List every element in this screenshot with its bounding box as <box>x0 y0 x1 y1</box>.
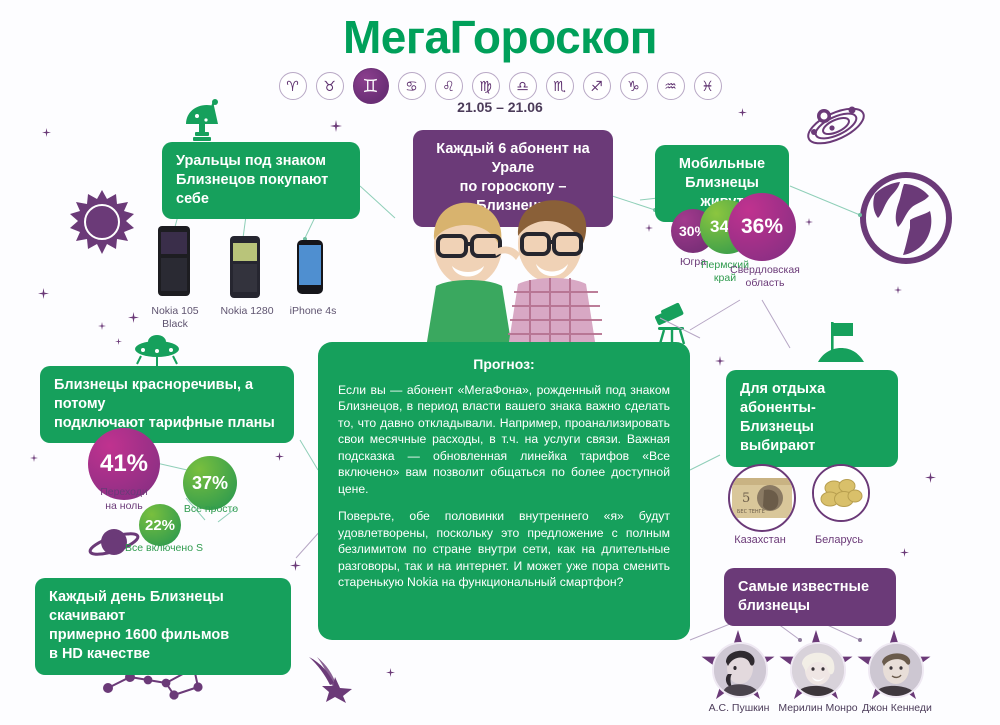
gemini-couple-photo <box>390 188 622 348</box>
tariff-label-vse-s: Все включено S <box>118 542 210 555</box>
phone-label-0: Nokia 105Black <box>140 305 210 331</box>
phones-banner: Уральцы под знакомБлизнецов покупают себ… <box>162 142 360 219</box>
celeb-star-pushkin <box>700 630 776 706</box>
forecast-paragraph-0: Если вы — абонент «МегаФона», рожденный … <box>338 382 670 497</box>
tariff-value-prosto: 37% <box>192 473 228 494</box>
travel-banner: Для отдыха абоненты-Близнецы выбирают <box>726 370 898 467</box>
tariffs-banner: Близнецы красноречивы, а потомуподключаю… <box>40 366 294 443</box>
travel-label-belarus: Беларусь <box>806 534 872 547</box>
celebs-banner: Самые известныеблизнецы <box>724 568 896 626</box>
celeb-label-pushkin: А.С. Пушкин <box>694 702 784 714</box>
celeb-portrait-monroe <box>790 642 846 698</box>
celeb-label-monroe: Мерилин Монро <box>772 702 864 714</box>
tariff-value-zero: 41% <box>100 450 148 478</box>
tariff-bubble-vse-s: 22% <box>139 504 181 546</box>
tariffs-banner-text: Близнецы красноречивы, а потомуподключаю… <box>54 377 275 431</box>
travel-banner-text: Для отдыха абоненты-Близнецы выбирают <box>740 381 825 454</box>
phones-banner-text: Уральцы под знакомБлизнецов покупают себ… <box>176 153 328 207</box>
tariff-label-prosto: Все просто <box>178 503 244 516</box>
svg-text:5: 5 <box>742 491 750 506</box>
svg-text:БЕС ТЕНГЕ: БЕС ТЕНГЕ <box>737 509 765 515</box>
forecast-panel: Прогноз: Если вы — абонент «МегаФона», р… <box>318 342 690 640</box>
infographic-canvas: МегаГороскоп ♈♉♊♋♌♍♎♏♐♑♒♓ 21.05 – 21.06 <box>0 0 1000 725</box>
downloads-banner-text: Каждый день Близнецы скачиваютпримерно 1… <box>49 589 229 662</box>
phone-label-1: Nokia 1280 <box>212 305 282 318</box>
region-value-sverdlovsk: 36% <box>741 215 783 239</box>
phone-iphone-4s <box>297 240 323 294</box>
region-label-sverdlovsk: Свердловскаяобласть <box>727 264 803 289</box>
tariff-bubble-prosto: 37% <box>183 456 237 510</box>
potatoes-icon <box>814 466 868 520</box>
phone-nokia-105 <box>158 226 190 296</box>
celeb-label-kennedy: Джон Кеннеди <box>852 702 942 714</box>
celebs-banner-text: Самые известныеблизнецы <box>738 579 869 614</box>
celeb-star-kennedy <box>856 630 932 706</box>
tariff-value-vse-s: 22% <box>145 517 175 534</box>
phone-nokia-1280 <box>230 236 260 298</box>
forecast-heading: Прогноз: <box>338 356 670 372</box>
banknote-icon: 5 БЕС ТЕНГЕ <box>730 466 794 530</box>
travel-label-kazakhstan: Казахстан <box>722 534 798 547</box>
celeb-portrait-pushkin <box>712 642 768 698</box>
travel-circle-kazakhstan: 5 БЕС ТЕНГЕ <box>728 464 796 532</box>
forecast-paragraph-1: Поверьте, обе половинки внутреннего «я» … <box>338 508 670 590</box>
phone-label-2: iPhone 4s <box>278 305 348 318</box>
celeb-portrait-kennedy <box>868 642 924 698</box>
downloads-banner: Каждый день Близнецы скачиваютпримерно 1… <box>35 578 291 675</box>
celeb-star-monroe <box>778 630 854 706</box>
region-bubble-sverdlovsk: 36% <box>728 193 796 261</box>
travel-circle-belarus <box>812 464 870 522</box>
